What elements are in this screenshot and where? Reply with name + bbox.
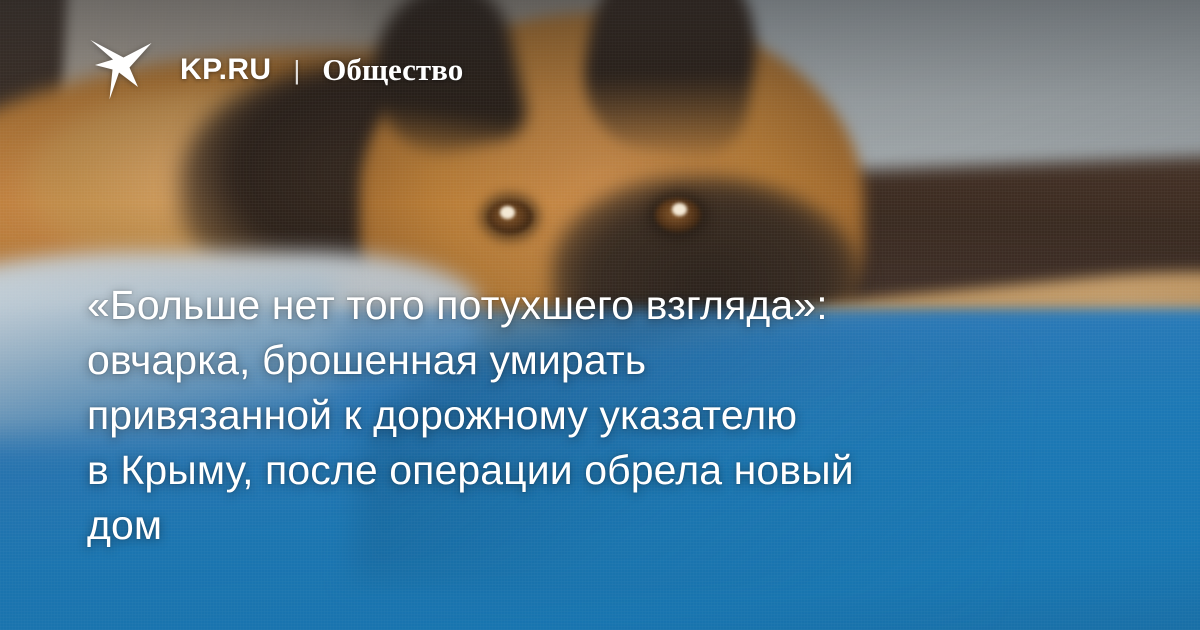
brand-bar: KP.RU | Общество [88,38,463,102]
headline-line-3: привязанной к дорожному указателю [87,388,1097,443]
social-share-card: KP.RU | Общество «Больше нет того потухш… [0,0,1200,630]
headline-line-2: овчарка, брошенная умирать [87,333,1097,388]
swallow-bird-logo-icon[interactable] [88,38,154,102]
headline-line-4: в Крыму, после операции обрела новый [87,443,1097,498]
headline-line-5: дом [87,498,1097,553]
headline-line-1: «Больше нет того потухшего взгляда»: [87,278,1097,333]
brand-separator: | [293,57,300,83]
brand-name[interactable]: KP.RU [180,53,271,87]
article-headline: «Больше нет того потухшего взгляда»: овч… [87,278,1097,553]
rubric-label[interactable]: Общество [322,52,463,88]
